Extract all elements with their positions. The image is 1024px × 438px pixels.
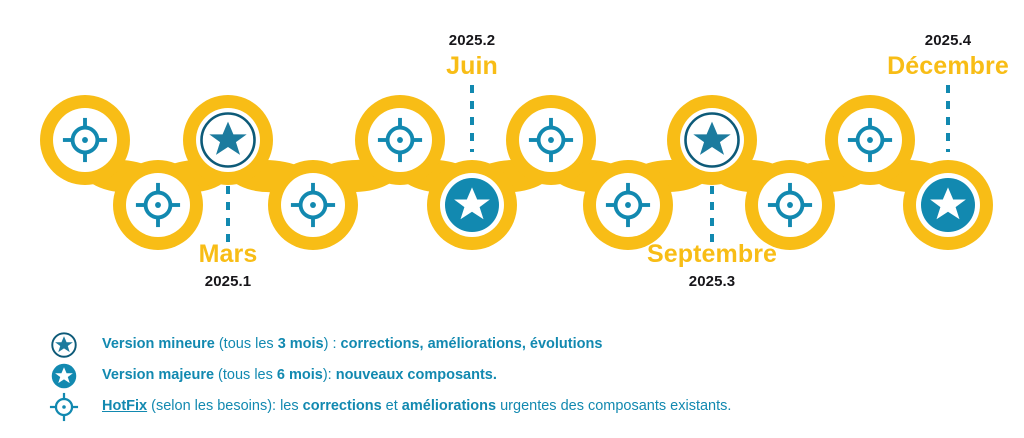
crosshair-target-icon (46, 392, 82, 422)
legend-segment: (tous les (215, 336, 278, 352)
timeline-node-hotfix[interactable] (745, 160, 835, 250)
milestone-month-label: Juin (446, 54, 498, 79)
legend: Version mineure (tous les 3 mois) : corr… (46, 330, 996, 423)
milestone-month-label: Décembre (887, 54, 1009, 79)
legend-segment: et (382, 398, 402, 414)
timeline-graphic (0, 0, 1024, 320)
timeline-node-major-release[interactable] (427, 160, 517, 250)
legend-segment: ): (323, 367, 336, 383)
legend-segment: HotFix (102, 398, 147, 414)
timeline-node-hotfix[interactable] (825, 95, 915, 185)
legend-segment: urgentes des composants existants. (496, 398, 731, 414)
milestone-septembre: Septembre 2025.3 (647, 242, 777, 289)
milestone-month-label: Septembre (647, 242, 777, 267)
legend-item-major-release: Version majeure (tous les 6 mois): nouve… (46, 361, 996, 391)
legend-segment: améliorations (402, 398, 496, 414)
milestone-version-label: 2025.2 (446, 33, 498, 48)
timeline-node-minor-release[interactable] (183, 95, 273, 185)
milestone-version-label: 2025.4 (887, 33, 1009, 48)
milestone-juin: 2025.2 Juin (446, 33, 498, 79)
timeline-node-major-release[interactable] (903, 160, 993, 250)
legend-segment: ) : (324, 336, 341, 352)
timeline-node-hotfix[interactable] (113, 160, 203, 250)
legend-segment: (selon les besoins): les (147, 398, 303, 414)
milestone-month-label: Mars (199, 242, 258, 267)
legend-segment: Version majeure (102, 367, 214, 383)
filled-star-circle-icon (46, 361, 82, 391)
outlined-star-circle-icon (46, 330, 82, 360)
milestone-mars: Mars 2025.1 (199, 242, 258, 289)
legend-segment: (tous les (214, 367, 277, 383)
timeline-node-hotfix[interactable] (268, 160, 358, 250)
legend-segment: 6 mois (277, 367, 323, 383)
legend-segment: corrections, améliorations, évolutions (341, 336, 603, 352)
legend-segment: 3 mois (278, 336, 324, 352)
legend-item-text: Version mineure (tous les 3 mois) : corr… (102, 337, 602, 353)
legend-item-minor-release: Version mineure (tous les 3 mois) : corr… (46, 330, 996, 360)
timeline-node-hotfix[interactable] (355, 95, 445, 185)
timeline-node-minor-release[interactable] (667, 95, 757, 185)
legend-segment: nouveaux composants. (336, 367, 497, 383)
legend-item-text: Version majeure (tous les 6 mois): nouve… (102, 368, 497, 384)
milestone-version-label: 2025.1 (199, 274, 258, 289)
release-roadmap-timeline: Mars 2025.1 2025.2 Juin Septembre 2025.3… (0, 0, 1024, 438)
milestone-decembre: 2025.4 Décembre (887, 33, 1009, 79)
legend-item-text: HotFix (selon les besoins): les correcti… (102, 399, 731, 415)
legend-segment: Version mineure (102, 336, 215, 352)
legend-item-hotfix: HotFix (selon les besoins): les correcti… (46, 392, 996, 422)
legend-segment: corrections (303, 398, 382, 414)
milestone-version-label: 2025.3 (647, 274, 777, 289)
timeline-node-hotfix[interactable] (40, 95, 130, 185)
timeline-node-hotfix[interactable] (506, 95, 596, 185)
timeline-node-hotfix[interactable] (583, 160, 673, 250)
